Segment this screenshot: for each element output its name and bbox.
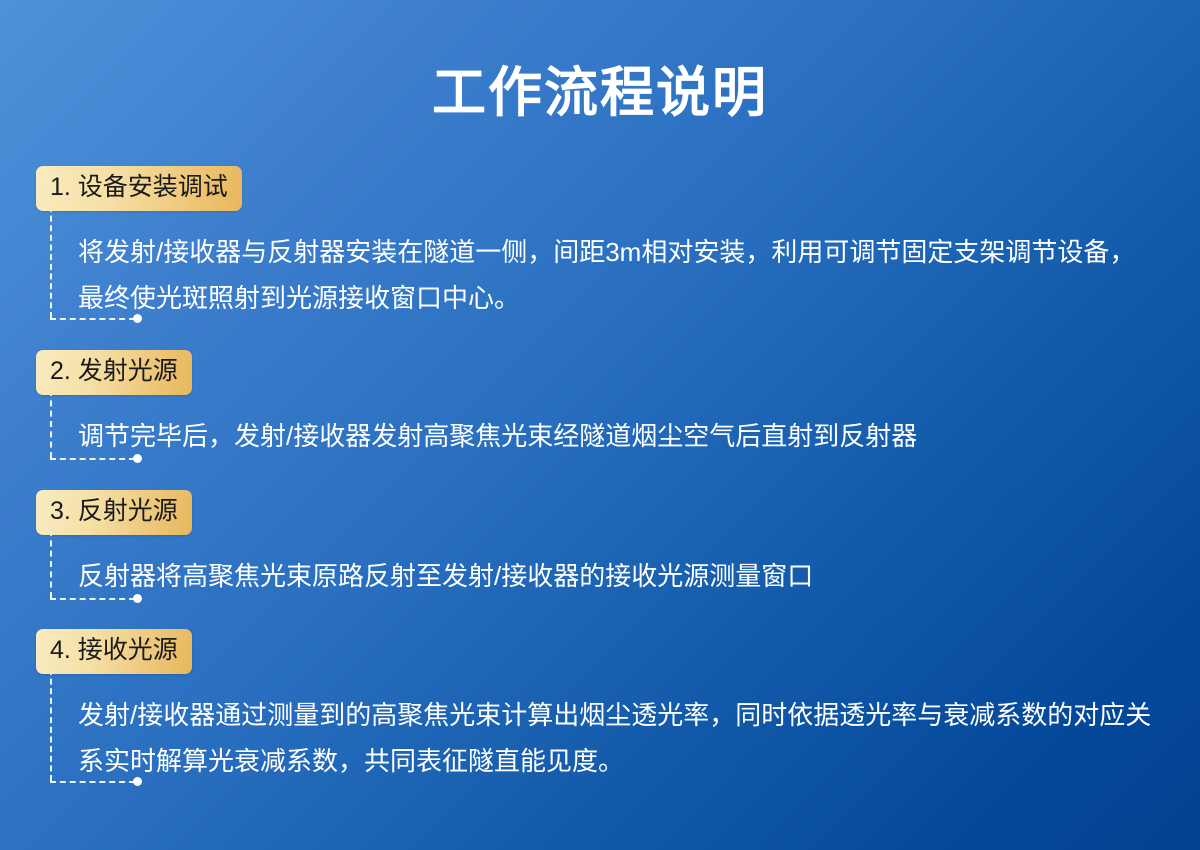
workflow-step-list: 1. 设备安装调试 将发射/接收器与反射器安装在隧道一侧，间距3m相对安装，利用… xyxy=(0,166,1200,819)
step-badge-2: 2. 发射光源 xyxy=(36,350,192,395)
page-title: 工作流程说明 xyxy=(0,62,1200,124)
workflow-step: 2. 发射光源 调节完毕后，发射/接收器发射高聚焦光束经隧道烟尘空气后直射到反射… xyxy=(0,350,1200,490)
step-badge-1: 1. 设备安装调试 xyxy=(36,166,242,211)
workflow-step: 1. 设备安装调试 将发射/接收器与反射器安装在隧道一侧，间距3m相对安装，利用… xyxy=(0,166,1200,350)
step-body-2: 调节完毕后，发射/接收器发射高聚焦光束经隧道烟尘空气后直射到反射器 xyxy=(36,413,1200,459)
step-body-3: 反射器将高聚焦光束原路反射至发射/接收器的接收光源测量窗口 xyxy=(36,553,1200,599)
step-body-4: 发射/接收器通过测量到的高聚焦光束计算出烟尘透光率，同时依据透光率与衰减系数的对… xyxy=(36,692,1200,784)
step-badge-4: 4. 接收光源 xyxy=(36,629,192,674)
step-badge-3: 3. 反射光源 xyxy=(36,490,192,535)
workflow-step: 3. 反射光源 反射器将高聚焦光束原路反射至发射/接收器的接收光源测量窗口 xyxy=(0,490,1200,629)
workflow-step: 4. 接收光源 发射/接收器通过测量到的高聚焦光束计算出烟尘透光率，同时依据透光… xyxy=(0,629,1200,819)
step-body-1: 将发射/接收器与反射器安装在隧道一侧，间距3m相对安装，利用可调节固定支架调节设… xyxy=(36,229,1200,321)
slide-canvas: 工作流程说明 1. 设备安装调试 将发射/接收器与反射器安装在隧道一侧，间距3m… xyxy=(0,0,1200,850)
